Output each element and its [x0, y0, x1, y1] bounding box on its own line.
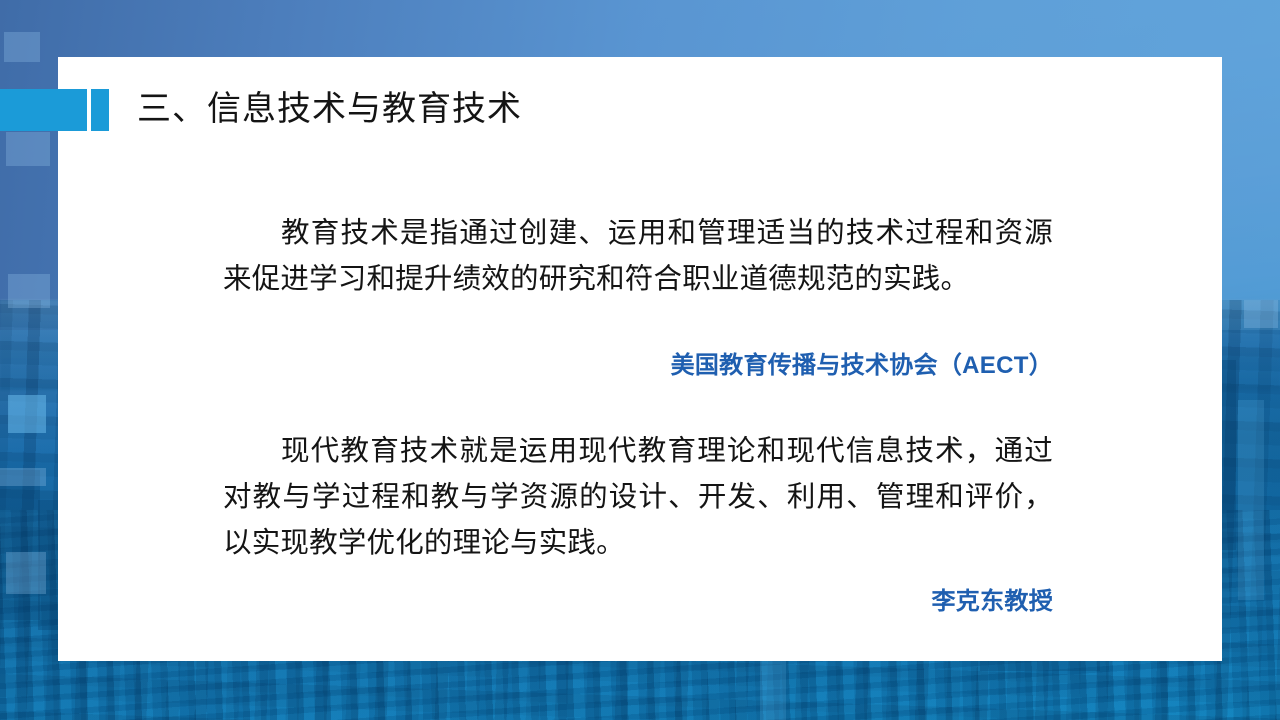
spacer	[223, 566, 1053, 582]
spacer	[223, 386, 1053, 428]
decorative-square	[0, 468, 46, 486]
definition-paragraph-aect: 教育技术是指通过创建、运用和管理适当的技术过程和资源来促进学习和提升绩效的研究和…	[223, 210, 1053, 302]
title-accent-bar-long	[0, 89, 87, 131]
background-building-shape	[1238, 400, 1264, 600]
background-building-shape	[0, 470, 40, 620]
page-title: 三、信息技术与教育技术	[137, 86, 522, 132]
definition-paragraph-modern-edtech: 现代教育技术就是运用现代教育理论和现代信息技术，通过对教与学过程和教与学资源的设…	[223, 428, 1053, 566]
decorative-square	[8, 274, 50, 308]
decorative-square	[6, 132, 50, 166]
attribution-aect: 美国教育传播与技术协会（AECT）	[223, 346, 1053, 386]
slide-body: 教育技术是指通过创建、运用和管理适当的技术过程和资源来促进学习和提升绩效的研究和…	[223, 210, 1053, 622]
decorative-square	[4, 32, 40, 62]
decorative-square	[1244, 300, 1278, 328]
presentation-slide: 三、信息技术与教育技术 教育技术是指通过创建、运用和管理适当的技术过程和资源来促…	[0, 0, 1280, 720]
decorative-square	[6, 552, 46, 594]
attribution-professor-li: 李克东教授	[223, 582, 1053, 622]
spacer	[223, 302, 1053, 346]
decorative-square	[8, 395, 46, 433]
title-accent-bar-short	[91, 89, 109, 131]
